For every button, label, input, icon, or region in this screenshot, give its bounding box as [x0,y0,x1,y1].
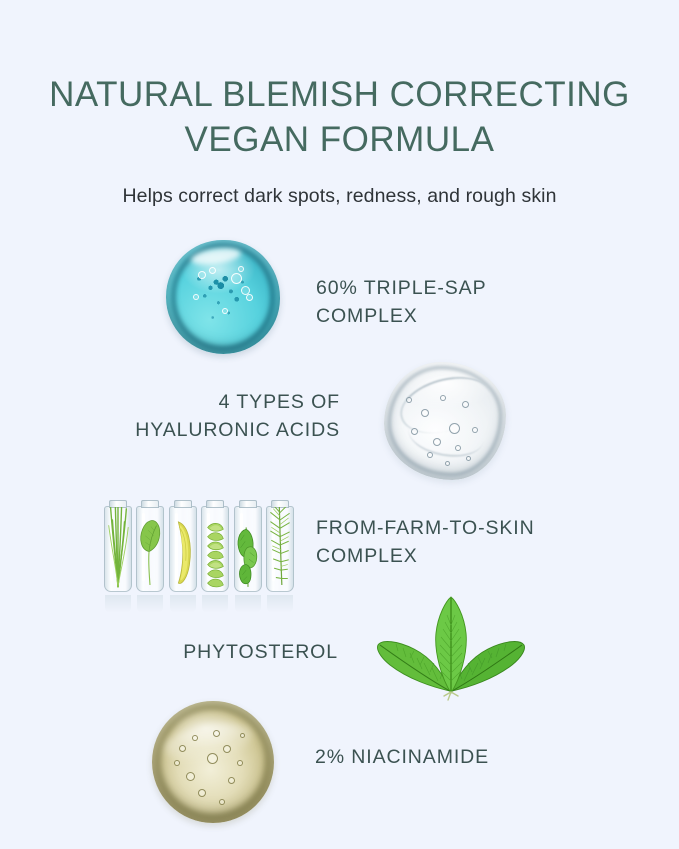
ingredient-label-phytosterol: PHYTOSTEROL [110,638,338,666]
turquoise-gel-droplet-icon [166,240,280,354]
three-green-leaves-icon [374,595,526,701]
ingredient-row-farm-to-skin: FROM-FARM-TO-SKIN COMPLEX [0,480,679,610]
vial-wheatgrass [104,506,132,592]
vial-rosemary-sprig [266,506,294,592]
vial-mint-leaves [234,506,262,592]
header: NATURAL BLEMISH CORRECTING VEGAN FORMULA… [0,72,679,208]
vial-green-leaf [136,506,164,592]
ingredient-row-niacinamide: 2% NIACINAMIDE [0,695,679,825]
vial-aloe-slices [201,506,229,592]
ingredient-infographic: NATURAL BLEMISH CORRECTING VEGAN FORMULA… [0,0,679,849]
ingredient-label-farm-to-skin: FROM-FARM-TO-SKIN COMPLEX [316,514,535,570]
golden-gel-droplet-icon [152,701,274,823]
ingredient-label-hyaluronic: 4 TYPES OF HYALURONIC ACIDS [120,388,340,444]
clear-gel-blob-icon [384,362,506,480]
ingredient-row-hyaluronic: 4 TYPES OF HYALURONIC ACIDS [0,358,679,488]
ingredient-label-triple-sap: 60% TRIPLE-SAP COMPLEX [316,274,486,330]
botanical-vials-icon [104,480,294,592]
ingredient-label-niacinamide: 2% NIACINAMIDE [315,743,489,771]
vial-avocado-slice [169,506,197,592]
ingredient-row-triple-sap: 60% TRIPLE-SAP COMPLEX [0,232,679,362]
page-subtitle: Helps correct dark spots, redness, and r… [0,162,679,208]
page-title: NATURAL BLEMISH CORRECTING VEGAN FORMULA [0,72,679,162]
